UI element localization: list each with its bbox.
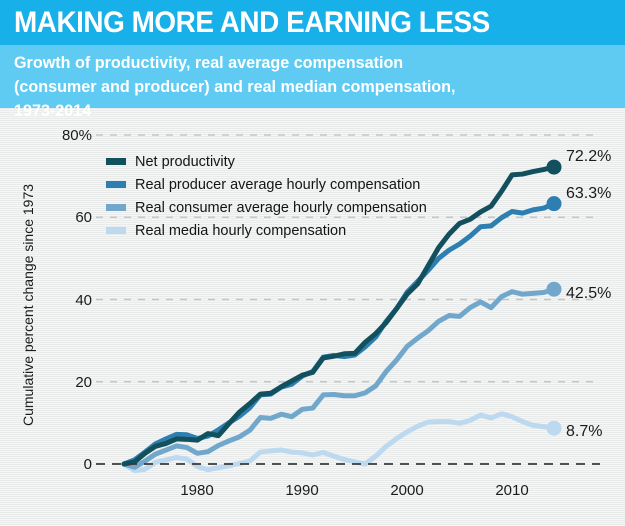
x-tick-2010: 2010 <box>495 482 528 499</box>
x-tick-1980: 1980 <box>180 482 213 499</box>
end-label-producer-avg: 63.3% <box>566 185 611 203</box>
legend-swatch-icon <box>106 158 126 165</box>
chart-page: MAKING MORE AND EARNING LESS Growth of p… <box>0 0 625 526</box>
series-end-dot <box>547 282 562 297</box>
legend-swatch-icon <box>106 204 126 211</box>
legend-swatch-icon <box>106 227 126 234</box>
series-end-dot <box>547 160 562 175</box>
legend-item-producer-avg[interactable]: Real producer average hourly compensatio… <box>106 173 427 196</box>
x-tick-1990: 1990 <box>285 482 318 499</box>
x-tick-2000: 2000 <box>390 482 423 499</box>
chart-legend: Net productivity Real producer average h… <box>106 150 427 242</box>
series-end-dot <box>547 196 562 211</box>
series-line <box>124 204 554 464</box>
legend-label: Real producer average hourly compensatio… <box>135 177 420 193</box>
chart-plot-area: Cumulative percent change since 1973 80%… <box>0 108 625 526</box>
legend-item-consumer-avg[interactable]: Real consumer average hourly compensatio… <box>106 196 427 219</box>
legend-item-median[interactable]: Real media hourly compensation <box>106 219 427 242</box>
legend-label: Real consumer average hourly compensatio… <box>135 200 427 216</box>
legend-item-net-productivity[interactable]: Net productivity <box>106 150 427 173</box>
series-line <box>124 414 554 471</box>
legend-label: Net productivity <box>135 154 235 170</box>
legend-label: Real media hourly compensation <box>135 223 346 239</box>
end-label-median: 8.7% <box>566 423 602 441</box>
series-end-dots <box>547 160 562 436</box>
series-end-dot <box>547 421 562 436</box>
page-title: MAKING MORE AND EARNING LESS <box>14 6 490 40</box>
legend-swatch-icon <box>106 181 126 188</box>
end-label-net-productivity: 72.2% <box>566 148 611 166</box>
end-label-consumer-avg: 42.5% <box>566 285 611 303</box>
